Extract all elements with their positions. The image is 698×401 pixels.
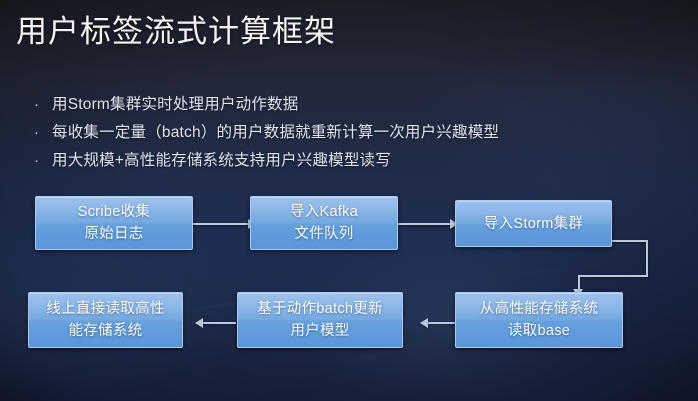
- list-item: · 每收集一定量（batch）的用户数据就重新计算一次用户兴趣模型: [30, 120, 670, 145]
- flow-box-line: 读取base: [508, 320, 570, 342]
- flow-box-line: 从高性能存储系统: [480, 298, 598, 320]
- flow-box-line: 基于动作batch更新: [257, 298, 383, 320]
- flow-box-line: 文件队列: [294, 223, 353, 245]
- connector-scribe-to-kafka: [192, 223, 250, 225]
- flow-box-storm[interactable]: 导入Storm集群: [455, 200, 612, 247]
- connector-storm-down: [646, 240, 648, 277]
- connector-kafka-to-storm: [397, 223, 452, 225]
- arrow-left-icon: [420, 318, 428, 328]
- slide-canvas: 用户标签流式计算框架 · 用Storm集群实时处理用户动作数据 · 每收集一定量…: [0, 0, 698, 401]
- flow-box-line: 线上直接读取高性: [46, 298, 164, 320]
- connector-storm-exit: [611, 240, 648, 242]
- bullet-text: 每收集一定量（batch）的用户数据就重新计算一次用户兴趣模型: [52, 120, 499, 145]
- list-item: · 用Storm集群实时处理用户动作数据: [30, 92, 670, 117]
- bullet-text: 用Storm集群实时处理用户动作数据: [52, 92, 298, 117]
- bullet-text: 用大规模+高性能存储系统支持用户兴趣模型读写: [52, 148, 391, 173]
- flow-box-read-base[interactable]: 从高性能存储系统 读取base: [455, 292, 623, 348]
- bullet-marker-icon: ·: [30, 148, 52, 173]
- connector-update-model-to-online-read: [198, 322, 236, 324]
- bullet-marker-icon: ·: [30, 120, 52, 145]
- flow-box-line: 能存储系统: [69, 320, 143, 342]
- flow-box-line: 用户模型: [290, 320, 349, 342]
- arrow-left-icon: [195, 318, 203, 328]
- flow-box-line: 原始日志: [84, 223, 143, 245]
- flow-box-scribe[interactable]: Scribe收集 原始日志: [35, 196, 193, 250]
- connector-storm-across: [578, 275, 648, 277]
- flow-box-online-read[interactable]: 线上直接读取高性 能存储系统: [28, 292, 183, 348]
- flow-box-line: Scribe收集: [78, 201, 151, 223]
- flow-box-update-model[interactable]: 基于动作batch更新 用户模型: [237, 292, 403, 348]
- list-item: · 用大规模+高性能存储系统支持用户兴趣模型读写: [30, 148, 670, 173]
- flow-box-line: 导入Kafka: [290, 201, 358, 223]
- page-title: 用户标签流式计算框架: [16, 10, 336, 54]
- flow-box-kafka[interactable]: 导入Kafka 文件队列: [250, 196, 398, 250]
- flow-box-line: 导入Storm集群: [484, 213, 583, 235]
- bullet-marker-icon: ·: [30, 92, 52, 117]
- bullet-list: · 用Storm集群实时处理用户动作数据 · 每收集一定量（batch）的用户数…: [30, 92, 670, 176]
